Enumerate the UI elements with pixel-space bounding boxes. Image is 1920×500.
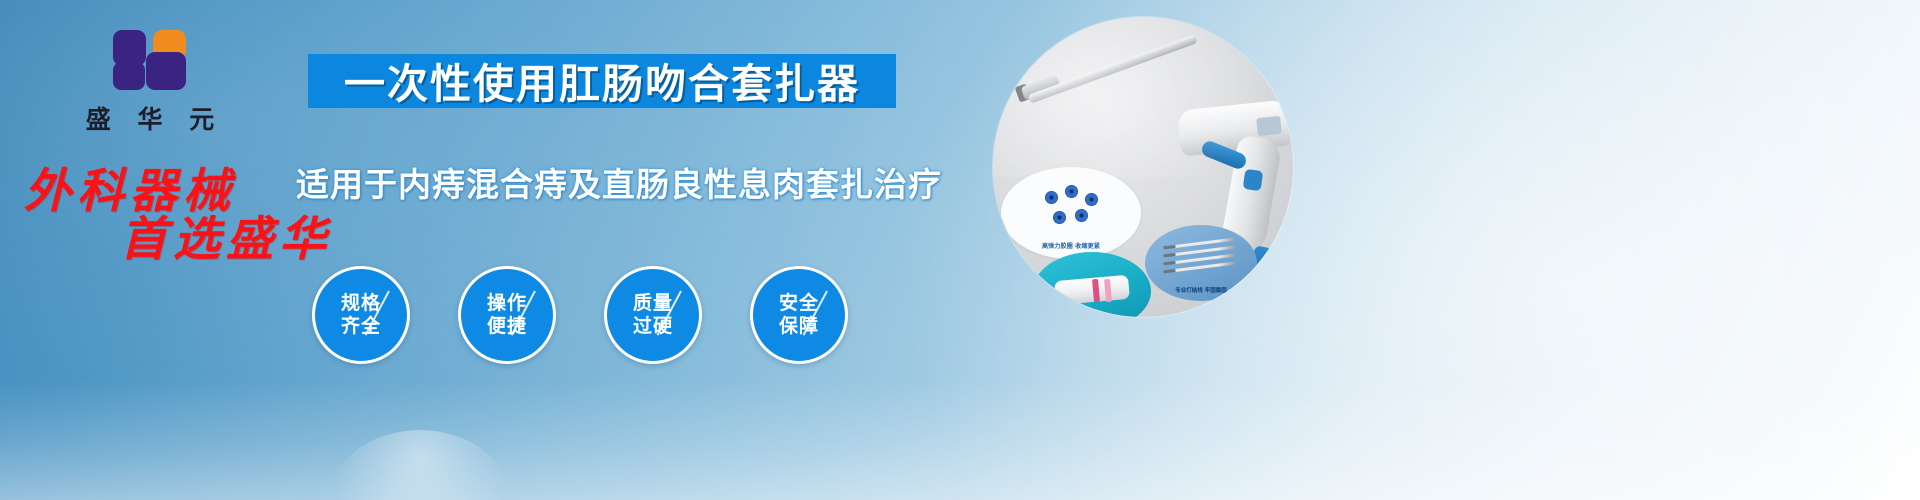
instrument-barrel xyxy=(1027,34,1197,103)
elastic-ring-icon xyxy=(1085,193,1098,206)
elastic-ring-icon xyxy=(1065,185,1078,198)
feature-badge-3-line1: 质量 xyxy=(633,292,673,315)
headline-title-bar: 一次性使用肛肠吻合套扎器 xyxy=(308,54,896,108)
inset-disposable-tube xyxy=(1033,252,1151,317)
logo-square-bottom-left xyxy=(113,62,145,90)
calligraphy-line-2: 首选盛华 xyxy=(120,200,332,269)
feature-badge-1-line1: 规格 xyxy=(341,292,381,315)
bottom-fade xyxy=(0,380,1920,500)
elastic-ring-icon xyxy=(1053,211,1066,224)
feature-badge-1[interactable]: 规格 齐全 xyxy=(312,266,410,364)
inset-elastic-rings: 高弹力胶圈 收缩更紧 xyxy=(1001,167,1141,259)
logo-mark-icon xyxy=(105,26,195,94)
logo-square-bottom-right xyxy=(146,52,186,90)
inset-needles-caption: 专业打结线 牢固稳固 xyxy=(1145,286,1257,294)
feature-badge-1-line2: 齐全 xyxy=(341,315,381,338)
logo-square-top-left xyxy=(113,30,146,66)
promo-banner: 盛 华 元 外科器械 首选盛华 一次性使用肛肠吻合套扎器 适用于内痔混合痔及直肠… xyxy=(0,0,1920,500)
feature-badge-3-line2: 过硬 xyxy=(633,315,673,338)
inset-rings-caption: 高弹力胶圈 收缩更紧 xyxy=(1001,241,1141,250)
feature-badge-4-line1: 安全 xyxy=(779,292,819,315)
brand-logo[interactable]: 盛 华 元 xyxy=(62,26,238,136)
decorative-arc xyxy=(330,430,510,500)
feature-badge-2[interactable]: 操作 便捷 xyxy=(458,266,556,364)
page-subtitle: 适用于内痔混合痔及直肠良性息肉套扎治疗 xyxy=(296,158,904,206)
instrument-button xyxy=(1243,169,1264,191)
product-photo[interactable]: 高弹力胶圈 收缩更紧 专业打结线 牢固稳固 xyxy=(993,17,1293,317)
brand-name: 盛 华 元 xyxy=(62,100,238,136)
page-title: 一次性使用肛肠吻合套扎器 xyxy=(308,50,896,110)
inset-needles: 专业打结线 牢固稳固 xyxy=(1145,225,1257,301)
feature-badge-list: 规格 齐全 操作 便捷 质量 过硬 安全 保障 xyxy=(312,266,848,364)
instrument-control-panel xyxy=(1256,116,1282,136)
elastic-ring-icon xyxy=(1075,209,1088,222)
feature-badge-4-line2: 保障 xyxy=(779,315,819,338)
feature-badge-3[interactable]: 质量 过硬 xyxy=(604,266,702,364)
feature-badge-2-line1: 操作 xyxy=(487,292,527,315)
feature-badge-4[interactable]: 安全 保障 xyxy=(750,266,848,364)
elastic-ring-icon xyxy=(1045,191,1058,204)
background-sheen-right xyxy=(840,0,1920,500)
feature-badge-2-line2: 便捷 xyxy=(487,315,527,338)
